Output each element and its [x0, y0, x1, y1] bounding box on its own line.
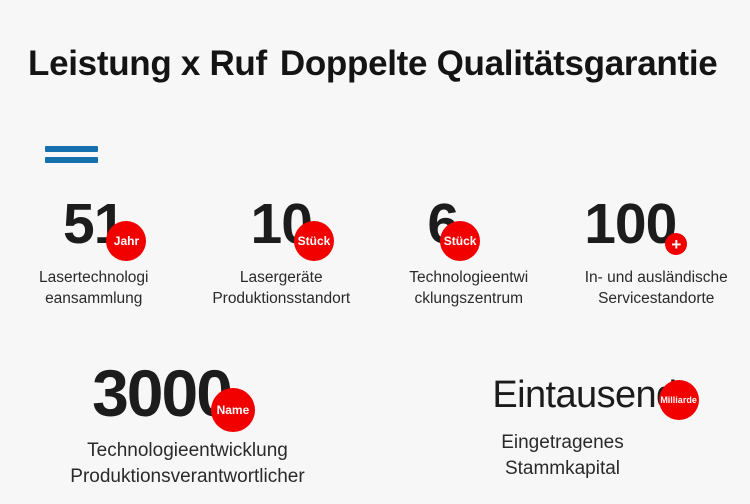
stat-caption: Eingetragenes Stammkapital [375, 430, 750, 481]
stat-caption-line2: Servicestandorte [563, 288, 750, 309]
stat-number-wrapper: Eintausend Milliarde [492, 376, 676, 414]
page-title-part2: Doppelte Qualitätsgarantie [280, 44, 718, 83]
stat-caption-line2: eansammlung [0, 288, 188, 309]
stats-row-bottom: 3000 Name Technologieentwicklung Produkt… [0, 360, 750, 489]
stat-badge: Stück [294, 221, 334, 261]
stat-number-wrapper: 100 + [584, 196, 676, 253]
stat-value: 3000 [92, 360, 231, 426]
stat-badge: Stück [440, 221, 480, 261]
section-divider [45, 146, 98, 163]
stat-number-wrapper: 3000 Name [92, 360, 231, 426]
stat-item-technologieentwicklung: 3000 Name Technologieentwicklung Produkt… [0, 360, 375, 489]
stat-caption-line1: Eingetragenes [375, 430, 750, 456]
stat-caption: Lasertechnologi eansammlung [0, 267, 188, 310]
divider-bar-top [45, 146, 98, 152]
stat-caption: Lasergeräte Produktionsstandort [188, 267, 376, 310]
divider-bar-bottom [45, 157, 98, 163]
stat-item-lasertechnologie: 51 Jahr Lasertechnologi eansammlung [0, 196, 188, 310]
stat-badge: Jahr [106, 221, 146, 261]
stat-caption: In- und ausländische Servicestandorte [563, 267, 750, 310]
stat-caption: Technologieentwicklung Produktionsverant… [0, 438, 375, 489]
stat-number-wrapper: 10 Stück [251, 196, 312, 253]
stat-caption-line1: Technologieentwicklung [0, 438, 375, 464]
stat-caption-line1: Lasergeräte [188, 267, 376, 288]
stat-badge: Name [211, 388, 255, 432]
stat-caption-line2: Produktionsstandort [188, 288, 376, 309]
stat-caption-line1: Lasertechnologi [0, 267, 188, 288]
page-title-part1: Leistung x Ruf [28, 44, 267, 83]
stat-badge-plus-icon: + [665, 233, 687, 255]
stats-row-top: 51 Jahr Lasertechnologi eansammlung 10 S… [0, 196, 750, 310]
stat-number-wrapper: 51 Jahr [63, 196, 124, 253]
stat-badge: Milliarde [659, 380, 699, 420]
stat-caption-line2: Produktionsverantwortlicher [0, 464, 375, 490]
page-title: Leistung x RufDoppelte Qualitätsgarantie [28, 44, 717, 84]
stat-number-wrapper: 6 Stück [427, 196, 458, 253]
stat-caption: Technologieentwi cklungszentrum [375, 267, 563, 310]
stat-value: 100 [584, 196, 676, 253]
stat-caption-line1: Technologieentwi [375, 267, 563, 288]
stat-caption-line2: Stammkapital [375, 456, 750, 482]
stat-item-technologiezentrum: 6 Stück Technologieentwi cklungszentrum [375, 196, 563, 310]
stat-caption-line2: cklungszentrum [375, 288, 563, 309]
infographic-page: Leistung x RufDoppelte Qualitätsgarantie… [0, 0, 750, 504]
stat-value: Eintausend [492, 376, 676, 414]
stat-item-lasergeraete: 10 Stück Lasergeräte Produktionsstandort [188, 196, 376, 310]
stat-item-servicestandorte: 100 + In- und ausländische Servicestando… [563, 196, 750, 310]
stat-item-stammkapital: Eintausend Milliarde Eingetragenes Stamm… [375, 360, 750, 489]
stat-caption-line1: In- und ausländische [563, 267, 750, 288]
